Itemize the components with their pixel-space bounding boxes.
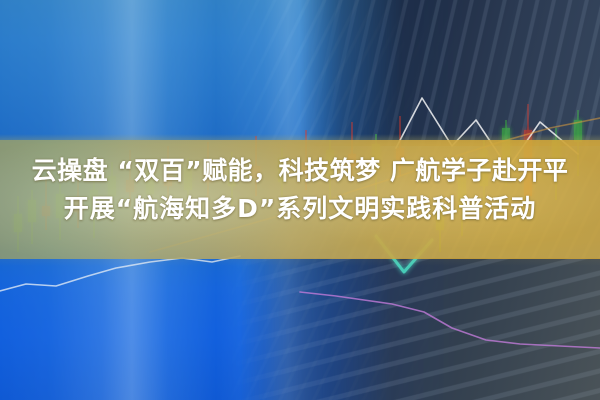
background-dark-stripes-bottom [230,258,600,400]
background-dark-panel-top [300,0,600,146]
headline: 云操盘 “双百”赋能，科技筑梦 广航学子赴开平 开展“航海知多D”系列文明实践科… [0,152,600,228]
background-dark-stripes-top [300,0,600,146]
headline-line-2: 开展“航海知多D”系列文明实践科普活动 [0,190,600,228]
trend-line [0,256,240,292]
trend-line [300,292,600,348]
background-dark-panel-bottom [240,258,600,400]
trend-line [376,236,432,272]
candle-body [574,120,582,142]
banner-image: 云操盘 “双百”赋能，科技筑梦 广航学子赴开平 开展“航海知多D”系列文明实践科… [0,0,600,400]
headline-line-1: 云操盘 “双百”赋能，科技筑梦 广航学子赴开平 [0,152,600,190]
